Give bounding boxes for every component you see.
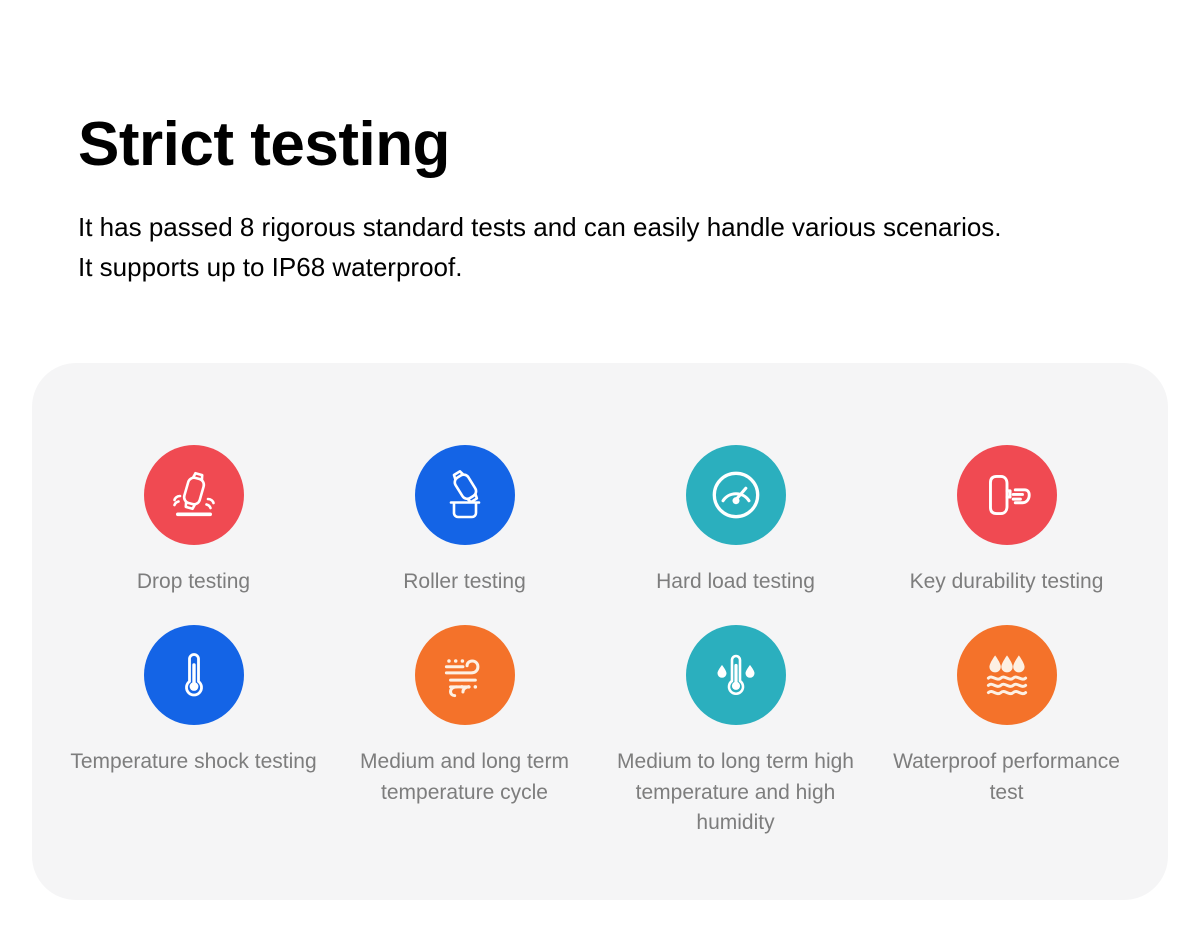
test-item-roller-testing: Roller testing xyxy=(329,445,600,597)
watch-tumbling-drum-icon xyxy=(415,445,515,545)
speedometer-gauge-icon xyxy=(686,445,786,545)
test-item-label: Temperature shock testing xyxy=(70,747,316,777)
test-item-key-durability-testing: Key durability testing xyxy=(871,445,1142,597)
page-subtitle: It has passed 8 rigorous standard tests … xyxy=(78,177,1023,288)
test-item-label: Key durability testing xyxy=(910,567,1104,597)
test-item-label: Roller testing xyxy=(403,567,526,597)
test-item-temperature-shock-testing: Temperature shock testing xyxy=(58,625,329,838)
test-item-label: Medium and long term temperature cycle xyxy=(340,747,590,808)
watch-hand-press-button-icon xyxy=(957,445,1057,545)
water-droplets-waves-icon xyxy=(957,625,1057,725)
thermometer-icon xyxy=(144,625,244,725)
test-item-label: Waterproof performance test xyxy=(882,747,1132,808)
tests-card: Drop testing xyxy=(32,363,1168,900)
thermometer-humidity-droplets-icon xyxy=(686,625,786,725)
test-item-hard-load-testing: Hard load testing xyxy=(600,445,871,597)
page-title: Strict testing xyxy=(78,0,1200,177)
wind-airflow-icon xyxy=(415,625,515,725)
tests-grid: Drop testing xyxy=(32,363,1168,839)
watch-drop-impact-icon xyxy=(144,445,244,545)
test-item-high-temperature-humidity: Medium to long term high temperature and… xyxy=(600,625,871,838)
test-item-label: Drop testing xyxy=(137,567,250,597)
test-item-drop-testing: Drop testing xyxy=(58,445,329,597)
test-item-label: Medium to long term high temperature and… xyxy=(611,747,861,838)
page-header: Strict testing It has passed 8 rigorous … xyxy=(0,0,1200,288)
test-item-label: Hard load testing xyxy=(656,567,815,597)
strict-testing-page: Strict testing It has passed 8 rigorous … xyxy=(0,0,1200,952)
test-item-waterproof-performance: Waterproof performance test xyxy=(871,625,1142,838)
test-item-temperature-cycle: Medium and long term temperature cycle xyxy=(329,625,600,838)
